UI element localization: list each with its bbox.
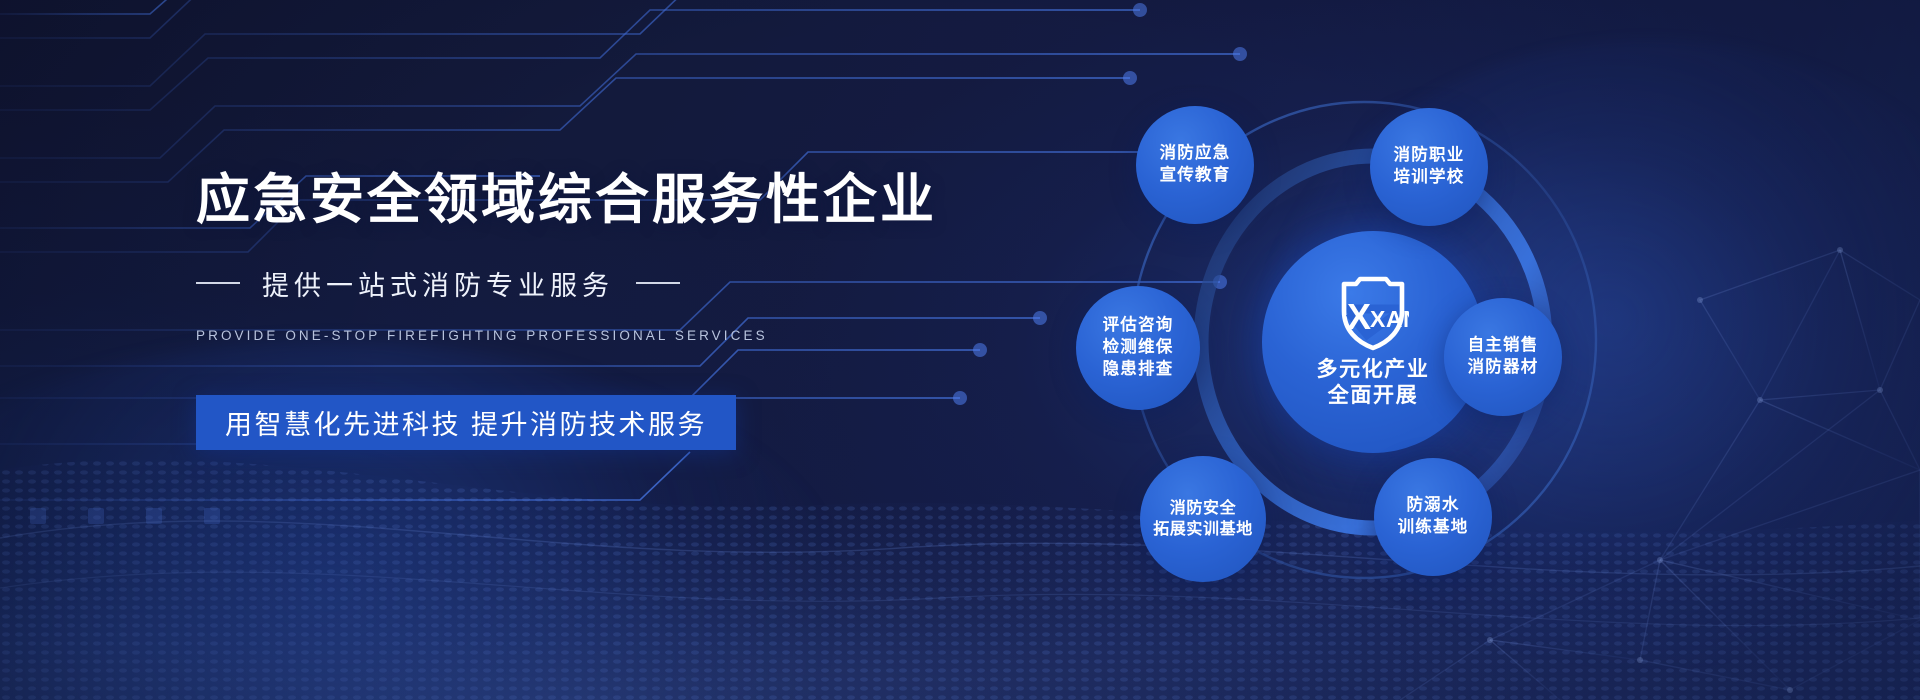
node-line1: 自主销售 (1468, 335, 1539, 357)
left-dash-icon (196, 282, 240, 284)
node-assessment-consulting[interactable]: 评估咨询 检测维保 隐患排查 (1076, 286, 1200, 410)
node-fire-emergency-education[interactable]: 消防应急 宣传教育 (1136, 106, 1254, 224)
right-dash-icon (636, 282, 680, 284)
subheadline-row: 提供一站式消防专业服务 (196, 264, 1016, 303)
node-equipment-sales[interactable]: 自主销售 消防器材 (1444, 298, 1562, 416)
hero-banner: 应急安全领域综合服务性企业 提供一站式消防专业服务 PROVIDE ONE-ST… (0, 0, 1920, 700)
node-line2: 培训学校 (1394, 167, 1465, 189)
node-line1: 评估咨询 (1103, 315, 1174, 337)
node-line1: 消防安全 (1170, 498, 1236, 519)
hub-label: 多元化产业 全面开展 (1317, 357, 1430, 410)
cta-button[interactable]: 用智慧化先进科技 提升消防技术服务 (196, 395, 736, 450)
hub-label-line1: 多元化产业 (1317, 357, 1430, 383)
node-line1: 消防应急 (1160, 143, 1231, 165)
node-safety-training-base[interactable]: 消防安全 拓展实训基地 (1140, 456, 1266, 582)
node-anti-drowning-base[interactable]: 防溺水 训练基地 (1374, 458, 1492, 576)
node-line2: 检测维保 (1103, 337, 1174, 359)
node-line2: 拓展实训基地 (1153, 519, 1253, 540)
english-subtitle: PROVIDE ONE-STOP FIREFIGHTING PROFESSION… (196, 328, 1016, 343)
node-line3: 隐患排查 (1103, 359, 1174, 381)
node-line2: 训练基地 (1398, 517, 1469, 539)
services-diagram: X XAN 多元化产业 全面开展 消防应急 宣传教育 消防职业 培训学校 评估咨… (1092, 58, 1792, 648)
svg-text:XAN: XAN (1370, 306, 1409, 332)
node-line2: 宣传教育 (1160, 165, 1231, 187)
page-title: 应急安全领域综合服务性企业 (196, 170, 1016, 232)
subheadline: 提供一站式消防专业服务 (262, 264, 614, 303)
hub-label-line2: 全面开展 (1317, 383, 1430, 409)
node-line1: 防溺水 (1406, 495, 1459, 517)
circuit-chips (30, 508, 220, 524)
shield-icon: X XAN (1337, 275, 1409, 353)
node-fire-vocational-school[interactable]: 消防职业 培训学校 (1370, 108, 1488, 226)
svg-text:X: X (1347, 296, 1371, 337)
node-line2: 消防器材 (1468, 357, 1539, 379)
hero-copy: 应急安全领域综合服务性企业 提供一站式消防专业服务 PROVIDE ONE-ST… (196, 170, 1016, 450)
node-line1: 消防职业 (1394, 145, 1465, 167)
